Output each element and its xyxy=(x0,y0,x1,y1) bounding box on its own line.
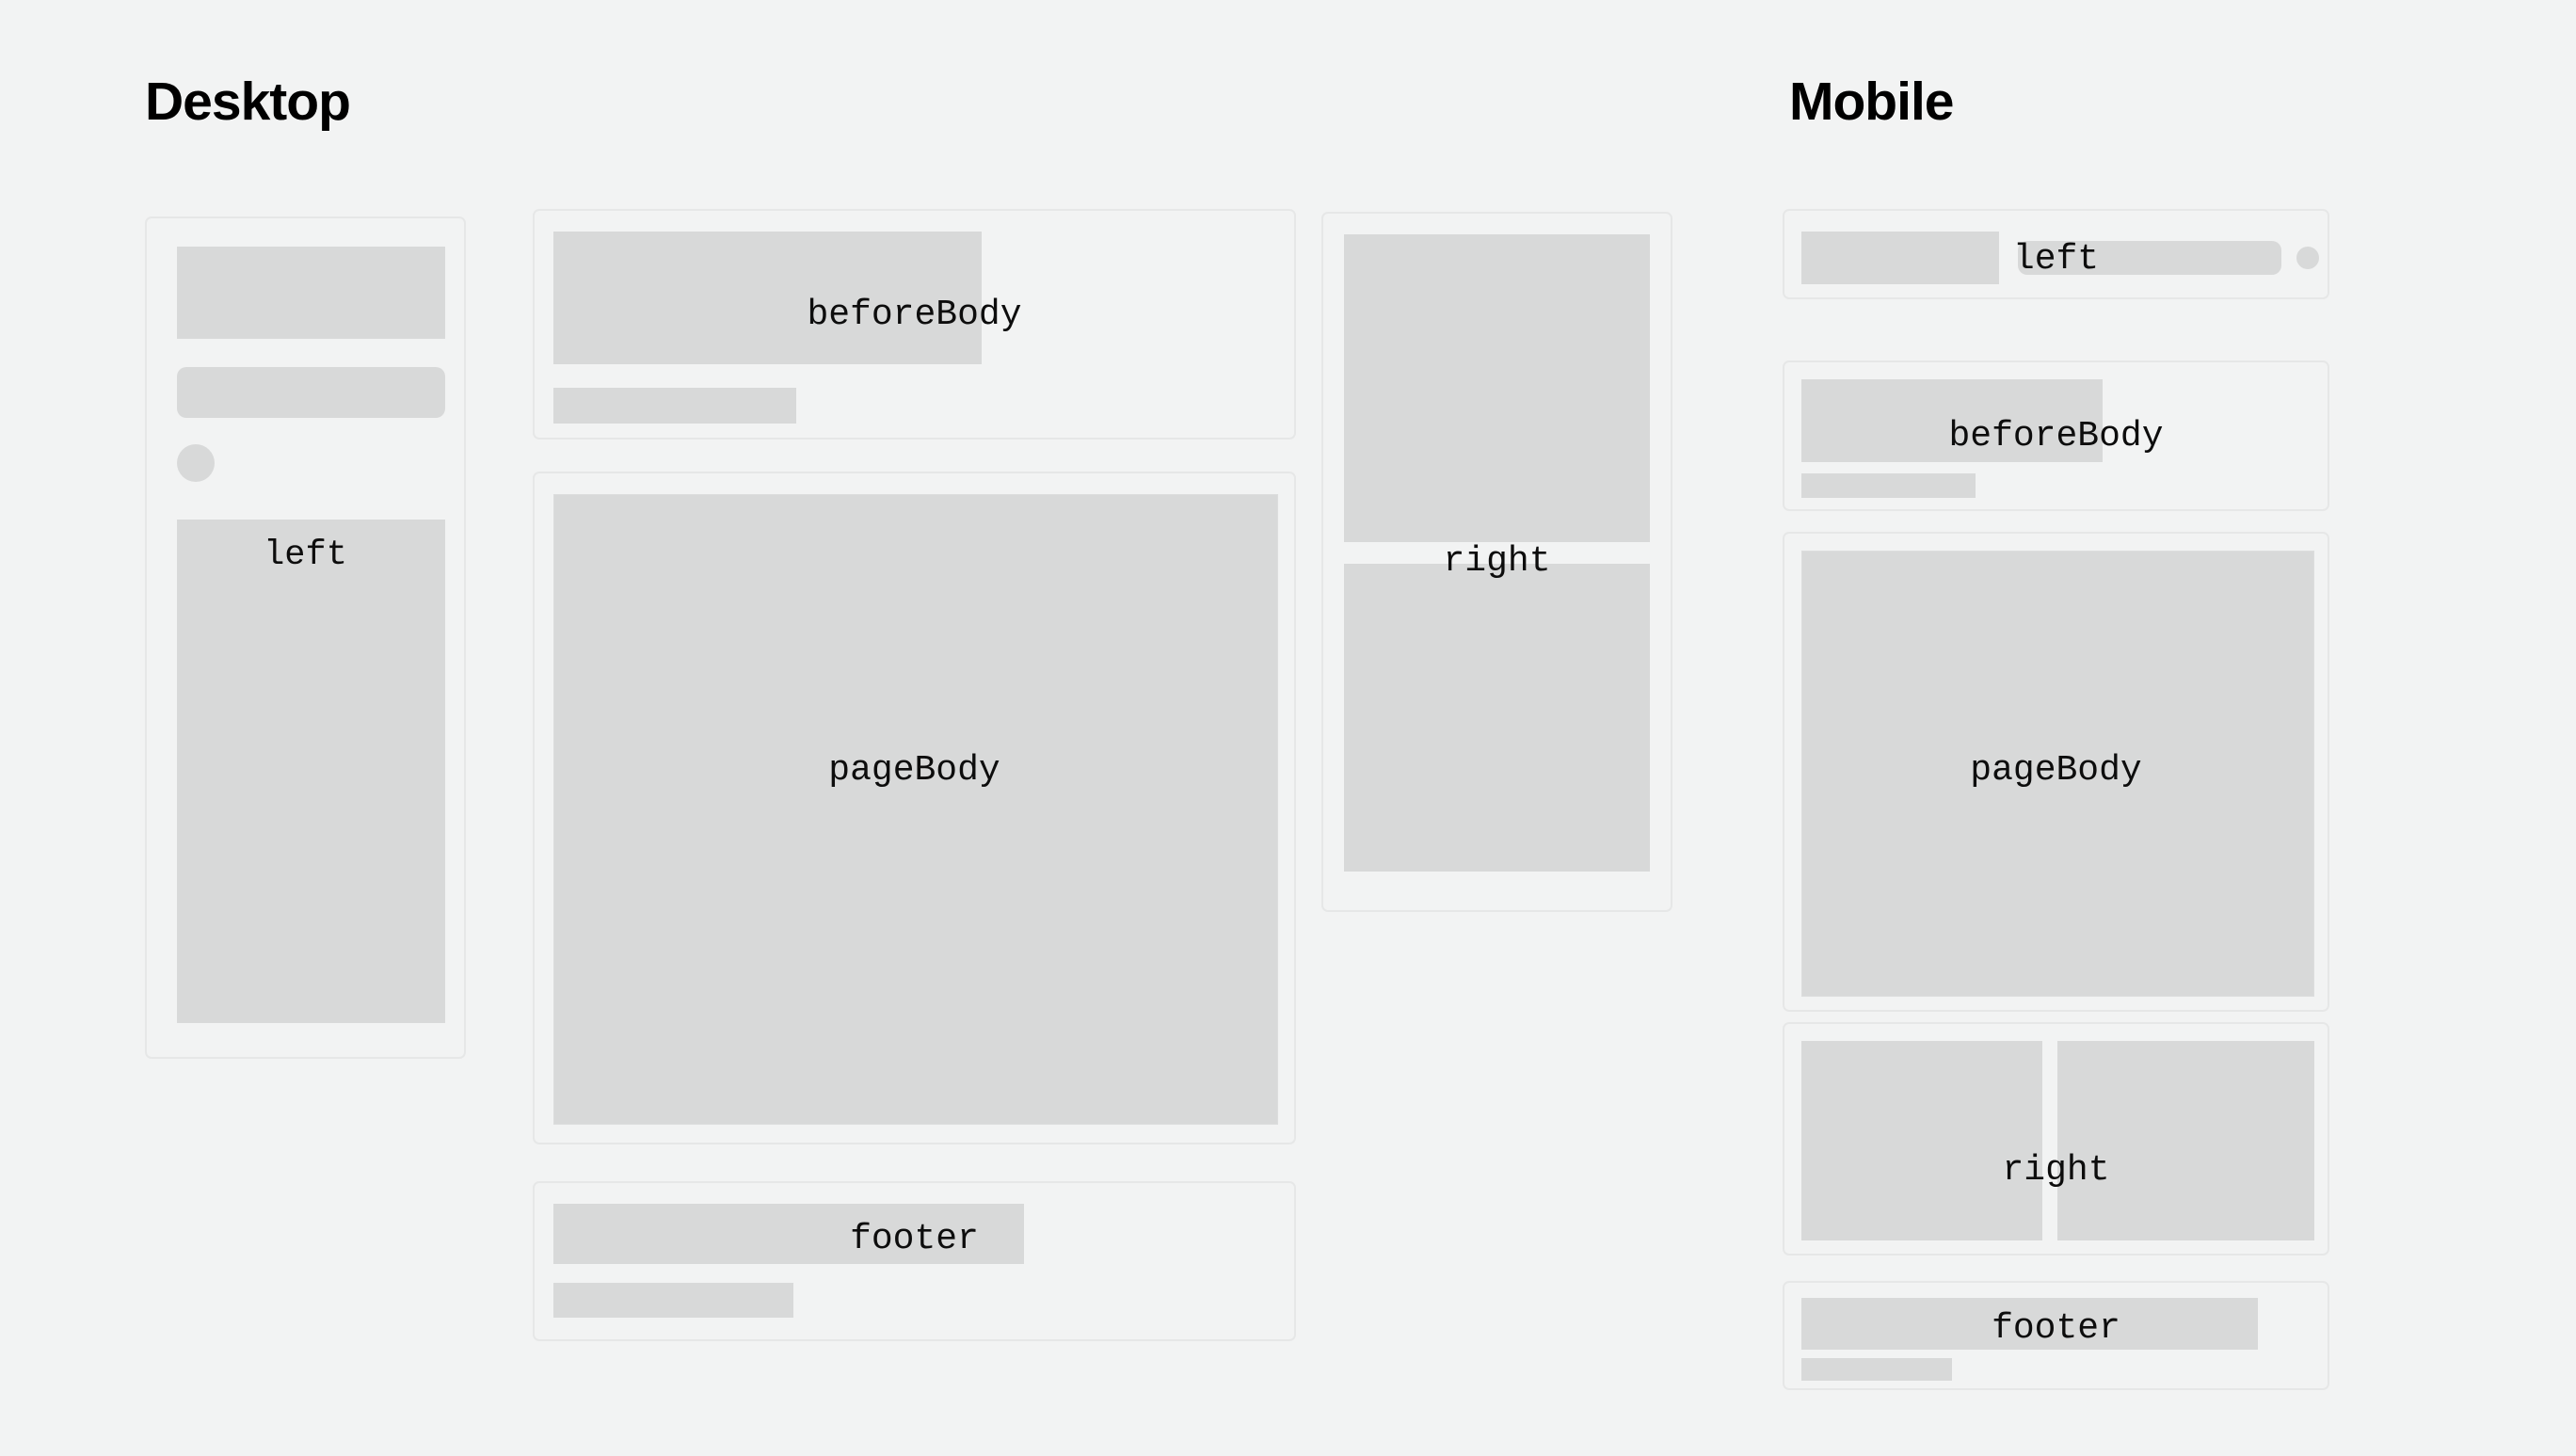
skeleton-block xyxy=(553,232,982,364)
skeleton-block-large xyxy=(1801,551,2314,997)
skeleton-block xyxy=(1801,379,2103,462)
skeleton-block xyxy=(1344,564,1650,872)
desktop-before-body-panel[interactable] xyxy=(533,209,1296,440)
skeleton-block xyxy=(177,247,445,339)
skeleton-block xyxy=(1801,1041,2042,1240)
mobile-section-heading: Mobile xyxy=(1789,75,1954,129)
skeleton-block xyxy=(1344,234,1650,542)
skeleton-block xyxy=(1801,232,1999,284)
wireframe-canvas: Desktop left beforeBody pageBody footer … xyxy=(0,0,2576,1456)
mobile-footer-panel[interactable] xyxy=(1783,1281,2329,1390)
skeleton-block xyxy=(2057,1041,2314,1240)
skeleton-block-small xyxy=(553,1283,793,1318)
skeleton-block-large xyxy=(553,494,1278,1125)
mobile-before-body-panel[interactable] xyxy=(1783,360,2329,511)
skeleton-block xyxy=(1801,1298,2258,1350)
desktop-right-panel[interactable] xyxy=(1321,212,1672,912)
skeleton-avatar-circle xyxy=(2296,247,2319,269)
mobile-page-body-panel[interactable] xyxy=(1783,532,2329,1012)
desktop-section-heading: Desktop xyxy=(145,75,350,129)
skeleton-block-tall xyxy=(177,520,445,1023)
mobile-right-panel[interactable] xyxy=(1783,1022,2329,1256)
mobile-left-panel[interactable] xyxy=(1783,209,2329,299)
desktop-footer-panel[interactable] xyxy=(533,1181,1296,1341)
skeleton-block-small xyxy=(1801,473,1976,498)
skeleton-block-small xyxy=(553,388,796,424)
skeleton-block-small xyxy=(1801,1358,1952,1381)
skeleton-block xyxy=(553,1204,1024,1264)
skeleton-block-rounded xyxy=(2018,241,2281,275)
skeleton-block-rounded xyxy=(177,367,445,418)
skeleton-avatar-circle xyxy=(177,444,215,482)
desktop-page-body-panel[interactable] xyxy=(533,472,1296,1144)
desktop-left-panel[interactable] xyxy=(145,216,466,1059)
